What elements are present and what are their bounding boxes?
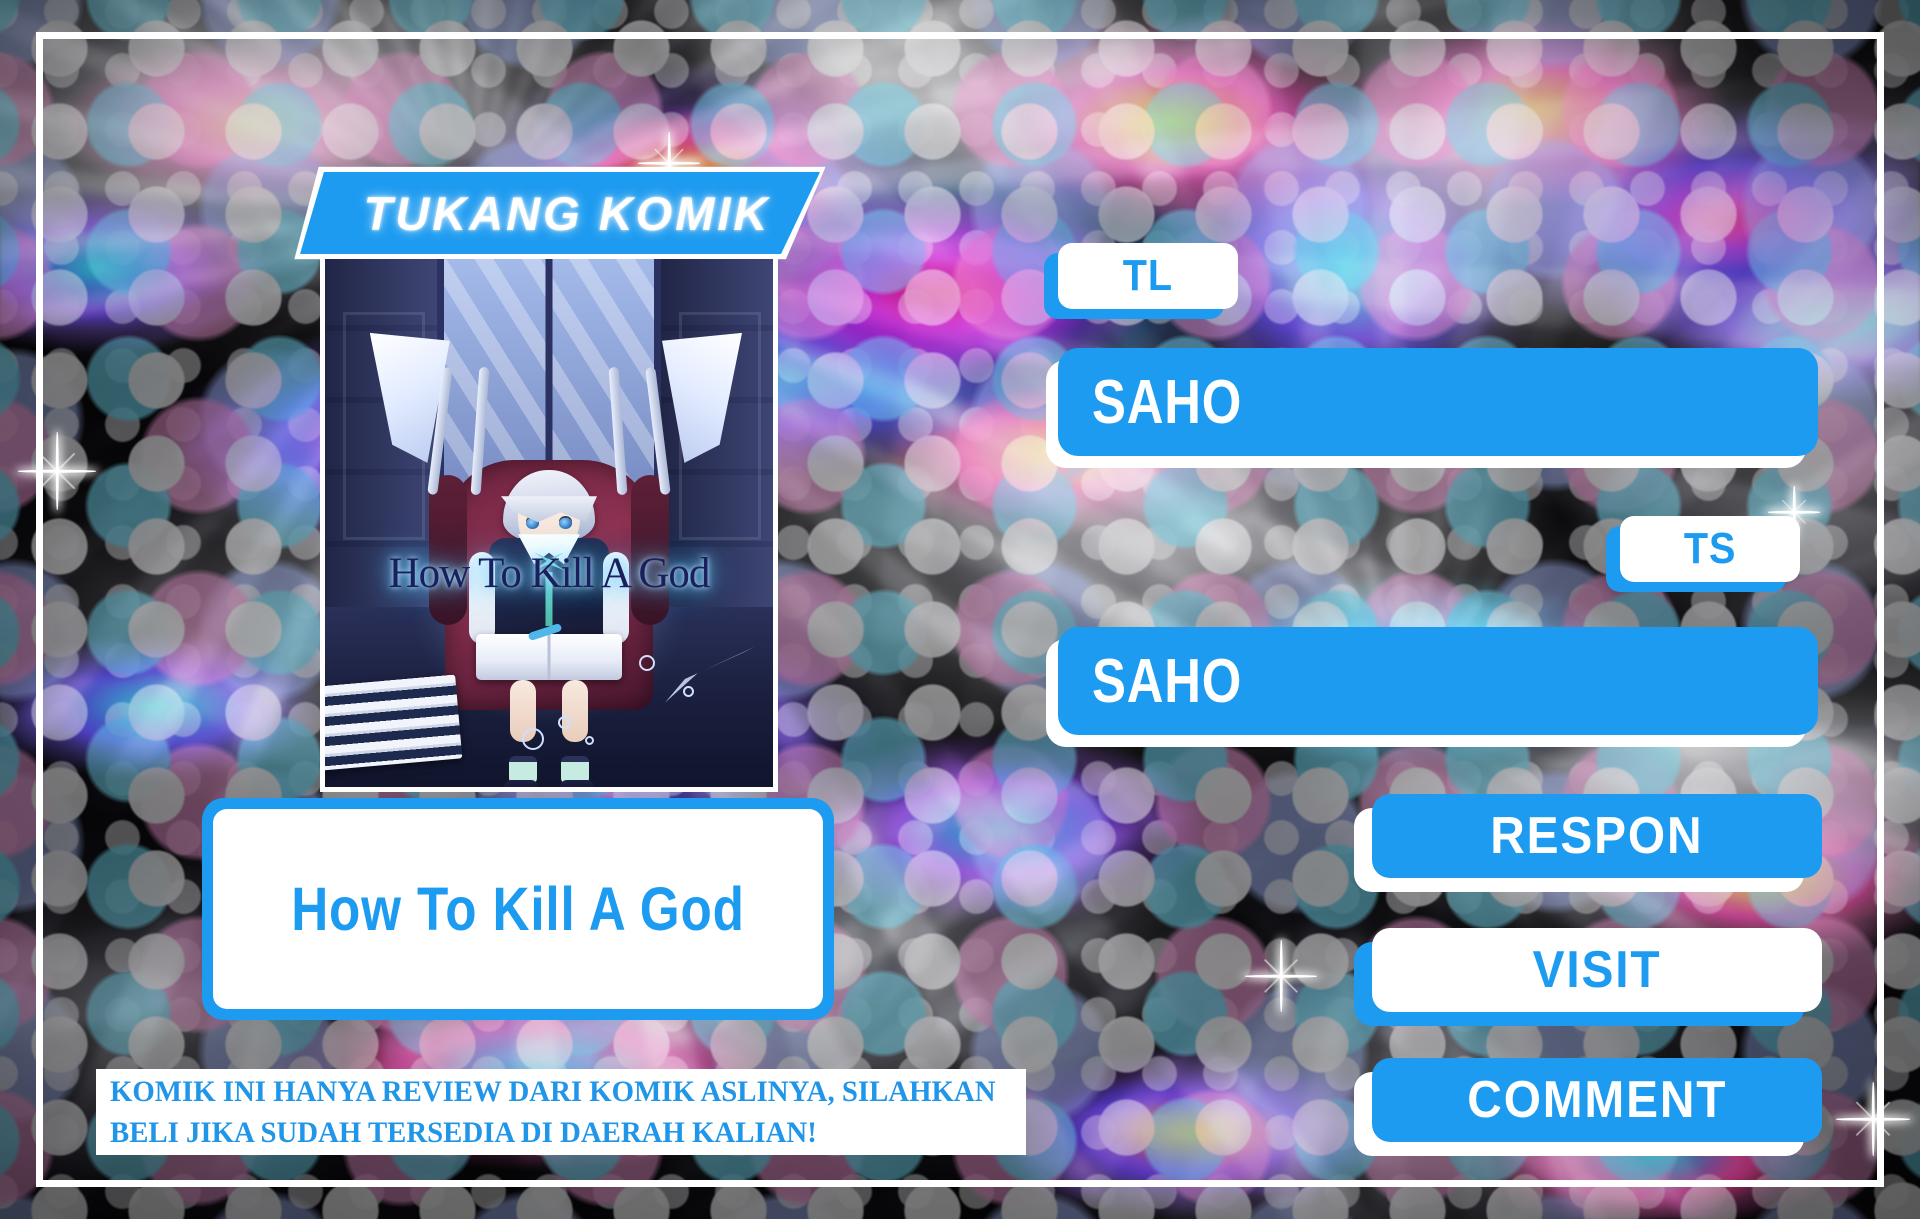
credit-bar-tl: SAHO — [1058, 348, 1818, 456]
credit-bar-tl-body: SAHO — [1058, 348, 1818, 456]
cover-shoe-right — [560, 780, 594, 787]
cover-artwork: How To Kill A God — [325, 259, 773, 787]
visit-button[interactable]: VISIT — [1372, 928, 1822, 1012]
cover-art-title-text: How To Kill A God — [389, 550, 710, 597]
comic-title-card-inner: How To Kill A God — [213, 809, 823, 1009]
credit-bar-ts-name: SAHO — [1092, 646, 1242, 717]
cover-character-legs — [494, 680, 604, 764]
credits-page: TUKANG KOMIK — [0, 0, 1920, 1219]
cover-art-title: How To Kill A God — [325, 549, 773, 598]
role-chip-ts-body: TS — [1620, 516, 1800, 582]
brand-banner-label: TUKANG KOMIK — [300, 172, 820, 254]
disclaimer-line-1: KOMIK INI HANYA REVIEW DARI KOMIK ASLINY… — [110, 1071, 976, 1112]
cover-character-eye-right — [559, 518, 572, 529]
background-vignette — [0, 0, 1920, 1219]
credit-bar-ts: SAHO — [1058, 627, 1818, 735]
visit-button-body[interactable]: VISIT — [1372, 928, 1822, 1012]
role-chip-tl-body: TL — [1058, 243, 1238, 309]
cover-leg-right — [562, 680, 588, 742]
comment-button[interactable]: COMMENT — [1372, 1058, 1822, 1142]
disclaimer-line-2: BELI JIKA SUDAH TERSEDIA DI DAERAH KALIA… — [110, 1112, 976, 1153]
cover-shoe-left — [504, 780, 538, 787]
respon-button-label: RESPON — [1490, 806, 1703, 866]
cover-character-hair — [503, 470, 595, 542]
respon-button-body[interactable]: RESPON — [1372, 794, 1822, 878]
cover-book-stack — [325, 675, 463, 772]
comment-button-body[interactable]: COMMENT — [1372, 1058, 1822, 1142]
cover-open-book — [476, 634, 622, 680]
comment-button-label: COMMENT — [1467, 1070, 1727, 1130]
cover-bubble — [558, 716, 571, 729]
cover-bubble — [522, 728, 544, 750]
comic-cover-image: How To Kill A God — [320, 254, 778, 792]
role-chip-ts-label: TS — [1684, 524, 1736, 574]
cover-bubble — [639, 655, 655, 671]
visit-button-label: VISIT — [1533, 940, 1662, 1000]
role-chip-tl-label: TL — [1123, 251, 1173, 301]
role-chip-tl: TL — [1058, 243, 1238, 309]
respon-button[interactable]: RESPON — [1372, 794, 1822, 878]
cover-bubble — [585, 736, 594, 745]
credit-bar-tl-name: SAHO — [1092, 367, 1242, 438]
comic-title-text: How To Kill A God — [291, 874, 745, 944]
brand-banner: TUKANG KOMIK — [300, 172, 820, 254]
comic-title-card: How To Kill A God — [202, 798, 834, 1020]
disclaimer-notice: KOMIK INI HANYA REVIEW DARI KOMIK ASLINY… — [96, 1069, 1026, 1155]
role-chip-ts: TS — [1620, 516, 1800, 582]
credit-bar-ts-body: SAHO — [1058, 627, 1818, 735]
